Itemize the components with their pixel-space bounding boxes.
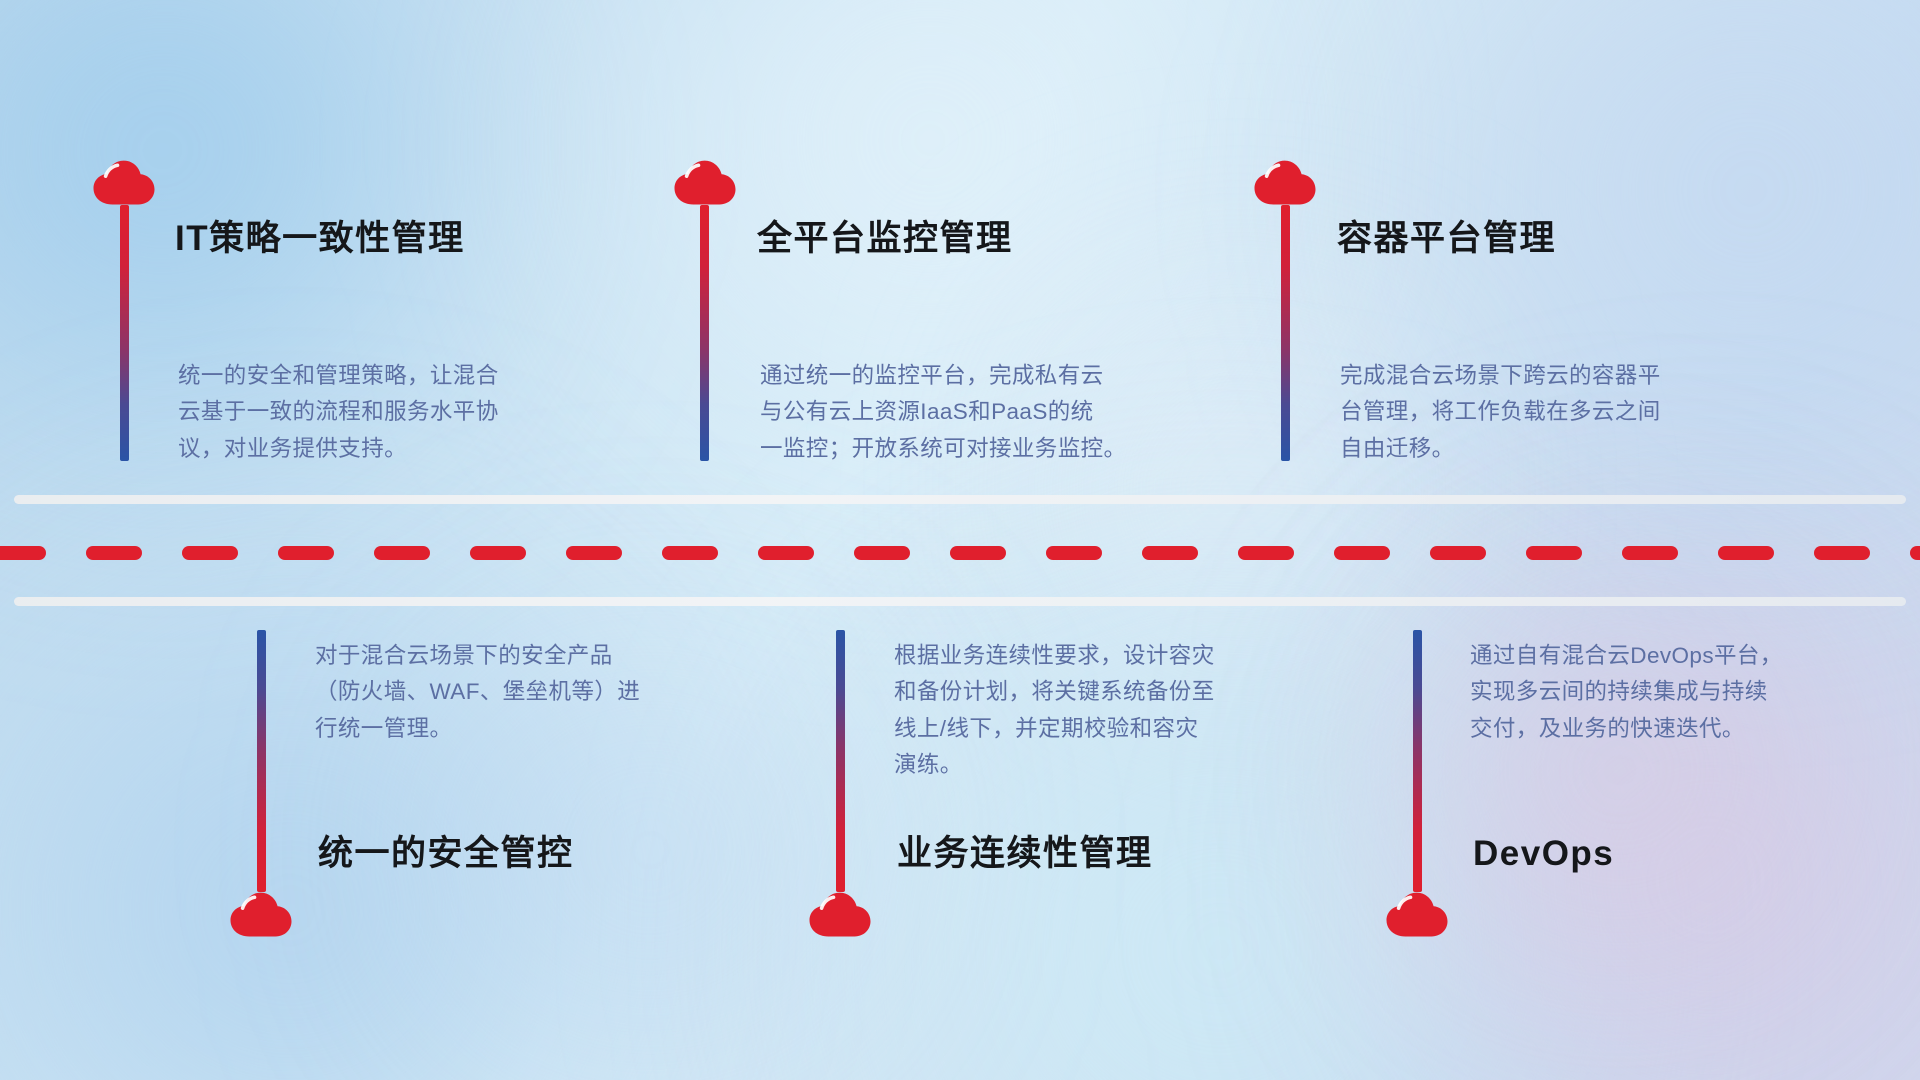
dash-segment — [758, 546, 814, 560]
dash-segment — [278, 546, 334, 560]
dash-segment — [1430, 546, 1486, 560]
connector-bar — [257, 630, 266, 892]
dash-segment — [1238, 546, 1294, 560]
connector-bar — [1281, 205, 1290, 461]
dash-segment — [1814, 546, 1870, 560]
connector-bar — [120, 205, 129, 461]
dash-segment — [0, 546, 46, 560]
dash-segment — [1046, 546, 1102, 560]
dash-segment — [374, 546, 430, 560]
dash-segment — [950, 546, 1006, 560]
cloud-icon — [1385, 890, 1451, 938]
divider-rule-lower — [14, 597, 1906, 606]
dash-segment — [1718, 546, 1774, 560]
dash-segment — [86, 546, 142, 560]
dash-segment — [854, 546, 910, 560]
feature-description: 通过自有混合云DevOps平台， 实现多云间的持续集成与持续 交付，及业务的快速… — [1470, 638, 1890, 747]
feature-description: 根据业务连续性要求，设计容灾 和备份计划，将关键系统备份至 线上/线下，并定期校… — [894, 638, 1324, 784]
feature-description: 统一的安全和管理策略，让混合 云基于一致的流程和服务水平协 议，对业务提供支持。 — [178, 358, 608, 467]
dash-segment — [662, 546, 718, 560]
connector-bar — [836, 630, 845, 892]
cloud-icon — [92, 158, 158, 206]
feature-description: 通过统一的监控平台，完成私有云 与公有云上资源IaaS和PaaS的统 一监控；开… — [760, 358, 1210, 467]
cloud-icon — [808, 890, 874, 938]
dash-segment — [470, 546, 526, 560]
dash-segment — [1910, 546, 1920, 560]
connector-bar — [700, 205, 709, 461]
cloud-icon — [1253, 158, 1319, 206]
feature-heading: 业务连续性管理 — [897, 833, 1153, 875]
red-dashed-separator — [0, 546, 1920, 560]
cloud-icon — [673, 158, 739, 206]
dash-segment — [566, 546, 622, 560]
cloud-icon — [229, 890, 295, 938]
dash-segment — [1334, 546, 1390, 560]
feature-description: 对于混合云场景下的安全产品 （防火墙、WAF、堡垒机等）进 行统一管理。 — [315, 638, 745, 747]
connector-bar — [1413, 630, 1422, 892]
feature-heading: 容器平台管理 — [1337, 218, 1556, 260]
dash-segment — [182, 546, 238, 560]
feature-description: 完成混合云场景下跨云的容器平 台管理，将工作负载在多云之间 自由迁移。 — [1340, 358, 1790, 467]
feature-heading: 统一的安全管控 — [318, 833, 574, 875]
dash-segment — [1526, 546, 1582, 560]
feature-heading: 全平台监控管理 — [757, 218, 1013, 260]
dash-segment — [1622, 546, 1678, 560]
feature-heading: DevOps — [1473, 833, 1614, 875]
feature-heading: IT策略一致性管理 — [175, 218, 465, 260]
divider-rule-upper — [14, 495, 1906, 504]
dash-segment — [1142, 546, 1198, 560]
